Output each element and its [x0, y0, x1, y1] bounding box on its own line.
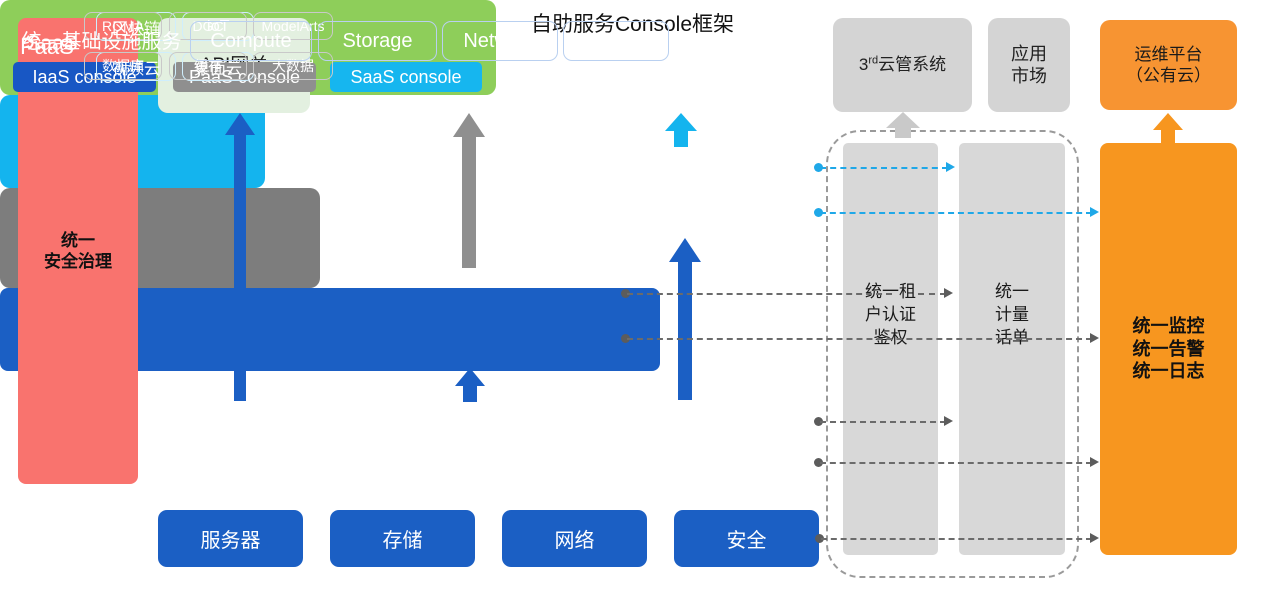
saas-console-label: SaaS console [350, 67, 461, 88]
dashed-saas-to-ops [820, 212, 1092, 214]
ops-platform-public-cloud-box[interactable]: 运维平台 （公有云） [1100, 20, 1237, 110]
dashed-infra-to-metering [820, 421, 946, 423]
infra-item-storage[interactable]: Storage [318, 21, 437, 61]
third-party-cloud-management-label: 3rd云管系统 [859, 54, 946, 75]
dashed-paas-to-auth [627, 293, 892, 295]
paas-item-database[interactable]: 数据库 [84, 52, 162, 80]
hardware-item-3-label: 安全 [727, 524, 767, 553]
third-party-suffix: 云管系统 [878, 55, 946, 74]
hardware-item-2-label: 网络 [555, 524, 595, 553]
hardware-item-security[interactable]: 安全 [674, 510, 819, 567]
infra-item-cce[interactable]: CCE [563, 21, 669, 61]
app-market-box[interactable]: 应用 市场 [988, 18, 1070, 112]
unified-metering-column[interactable]: 统一 计量 话单 [959, 143, 1065, 555]
third-party-cloud-management-box[interactable]: 3rd云管系统 [833, 18, 972, 112]
arrow-saas-to-saas-console [664, 113, 698, 147]
app-market-label: 应用 市场 [1011, 43, 1047, 88]
dashed-hardware-to-ops [821, 538, 1092, 540]
arrow-infra-to-api-gateway [224, 113, 256, 401]
unified-monitoring-column[interactable]: 统一监控 统一告警 统一日志 [1100, 143, 1237, 555]
third-party-prefix: 3 [859, 55, 868, 74]
hardware-item-network[interactable]: 网络 [502, 510, 647, 567]
hardware-item-storage[interactable]: 存储 [330, 510, 475, 567]
infra-item-0-label: Compute [210, 30, 291, 53]
arrow-paas-to-console [452, 113, 486, 268]
arrow-shared-to-third-party [885, 112, 921, 138]
arrowhead-paas-to-ops [1090, 333, 1099, 343]
infra-item-compute[interactable]: Compute [190, 21, 312, 61]
unified-infrastructure-label: 统一基础设施服务 [14, 25, 189, 54]
saas-console-chip[interactable]: SaaS console [330, 62, 482, 92]
third-party-sup: rd [868, 55, 878, 67]
arrow-infra-to-saas [668, 238, 702, 400]
dashed-paas-to-ops [627, 338, 1092, 340]
arrowhead-infra-to-metering [944, 416, 953, 426]
infra-item-2-label: Network [463, 30, 536, 53]
arrow-infra-to-paas [454, 368, 486, 402]
ops-platform-label: 运维平台 （公有云） [1126, 44, 1211, 87]
unified-security-governance-label: 统一 安全治理 [44, 230, 112, 273]
unified-tenant-auth-column[interactable]: 统一租 户认证 鉴权 [843, 143, 938, 555]
infra-item-3-label: CCE [595, 30, 637, 53]
dashed-saas-to-auth [820, 167, 948, 169]
dashed-auth-to-metering [918, 293, 946, 295]
arrowhead-hardware-to-ops [1090, 533, 1099, 543]
arrowhead-saas-to-auth [946, 162, 955, 172]
arrowhead-auth-to-metering [944, 288, 953, 298]
arrowhead-saas-to-ops [1090, 207, 1099, 217]
hardware-item-server[interactable]: 服务器 [158, 510, 303, 567]
dashed-infra-to-ops [820, 462, 1092, 464]
infra-item-network[interactable]: Network [442, 21, 558, 61]
hardware-item-1-label: 存储 [383, 524, 423, 553]
infra-item-1-label: Storage [342, 30, 412, 53]
arrowhead-infra-to-ops [1090, 457, 1099, 467]
diagram-canvas: 统一 安全治理 API网关 自助服务Console框架 IaaS console… [0, 0, 1265, 605]
hardware-item-0-label: 服务器 [201, 524, 261, 553]
paas-item-3-label: 数据库 [102, 56, 144, 76]
unified-monitoring-label: 统一监控 统一告警 统一日志 [1133, 315, 1205, 383]
arrow-ops-main-to-ops-platform [1152, 113, 1184, 145]
